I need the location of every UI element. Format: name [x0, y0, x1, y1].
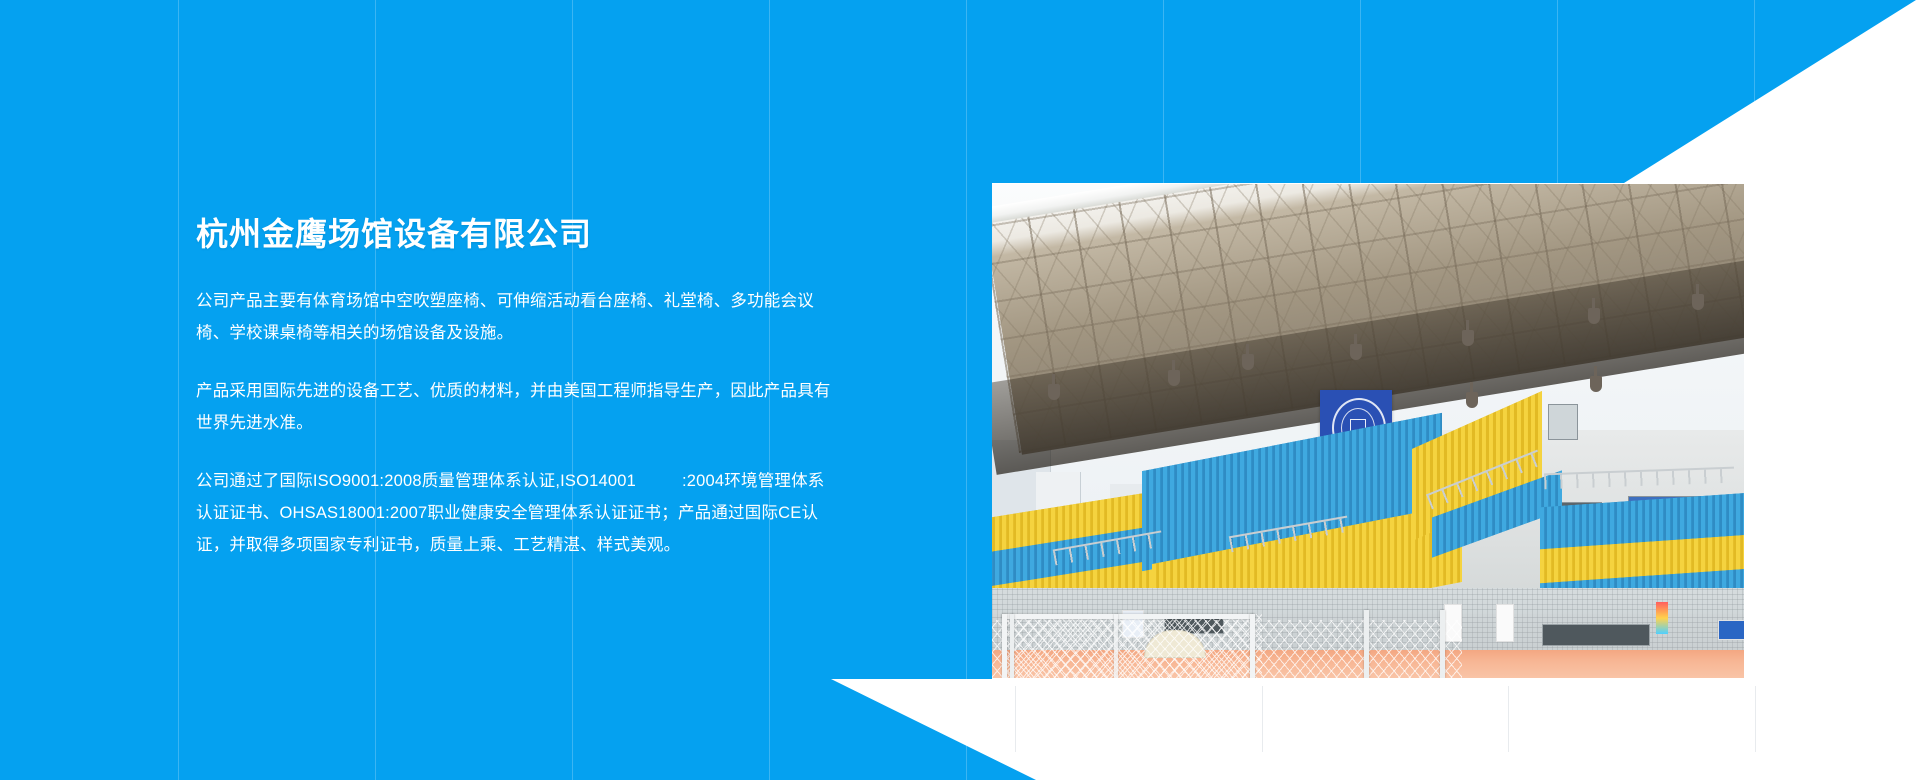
photo-lamp-3 — [1242, 354, 1254, 370]
photo-goal-post-left — [1002, 614, 1007, 678]
intro-paragraph-quality: 产品采用国际先进的设备工艺、优质的材料，并由美国工程师指导生产，因此产品具有世界… — [196, 375, 836, 439]
white-grid-line-3 — [1508, 686, 1509, 752]
photo-goal-post-mid — [1114, 614, 1118, 678]
photo-lamp-5 — [1462, 330, 1474, 346]
intro-paragraph-certifications: 公司通过了国际ISO9001:2008质量管理体系认证,ISO14001:200… — [196, 465, 836, 561]
banner-stage: 杭州金鹰场馆设备有限公司 公司产品主要有体育场馆中空吹塑座椅、可伸缩活动看台座椅… — [0, 0, 1920, 780]
photo-goal-net — [1002, 614, 1262, 678]
stadium-photo — [992, 184, 1744, 678]
photo-lamp-7 — [1692, 294, 1704, 310]
photo-goal-stay-left — [1010, 614, 1014, 678]
photo-goal-crossbar — [1002, 614, 1254, 619]
grid-line-9 — [1754, 0, 1755, 780]
photo-lamp-4 — [1350, 344, 1362, 360]
photo-goal-stay-right — [1364, 610, 1369, 678]
photo-lamp-6 — [1588, 308, 1600, 324]
photo-lamp-8 — [1466, 392, 1478, 408]
photo-vent-2 — [1542, 624, 1650, 646]
photo-goal-post-right — [1250, 614, 1255, 678]
certification-text-part1: 公司通过了国际ISO9001:2008质量管理体系认证,ISO14001 — [196, 472, 636, 490]
photo-window-2 — [1548, 404, 1578, 440]
white-grid-line-1 — [1015, 686, 1016, 752]
photo-poster-2 — [1496, 604, 1514, 642]
photo-lamp-9 — [1590, 376, 1602, 392]
white-grid-line-2 — [1262, 686, 1263, 752]
photo-lamp-2 — [1168, 370, 1180, 386]
photo-goal-stay-right-2 — [1440, 610, 1445, 678]
intro-paragraph-products: 公司产品主要有体育场馆中空吹塑座椅、可伸缩活动看台座椅、礼堂椅、多功能会议椅、学… — [196, 285, 836, 349]
photo-lamp-1 — [1048, 384, 1060, 400]
intro-copy-block: 杭州金鹰场馆设备有限公司 公司产品主要有体育场馆中空吹塑座椅、可伸缩活动看台座椅… — [196, 215, 836, 561]
photo-sign-board — [1718, 620, 1744, 640]
white-grid-line-4 — [1755, 686, 1756, 752]
page-title: 杭州金鹰场馆设备有限公司 — [196, 215, 836, 253]
photo-poster-color — [1656, 602, 1668, 634]
photo-soccer-goal — [1002, 614, 1262, 678]
